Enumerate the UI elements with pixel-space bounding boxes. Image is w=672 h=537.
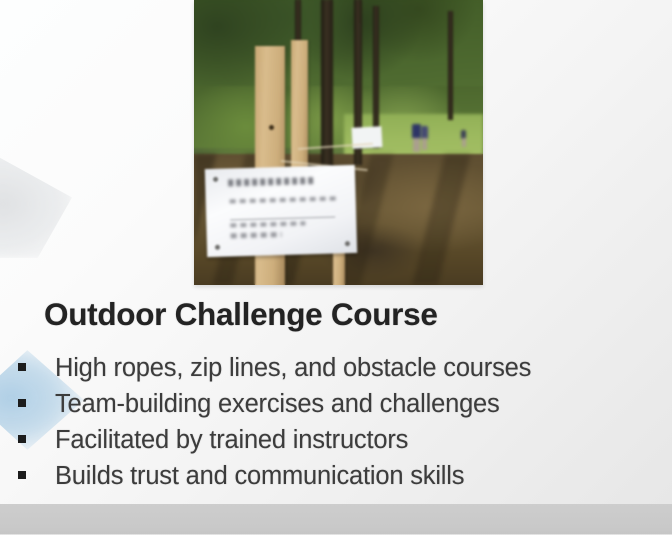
square-bullet-icon [18, 435, 26, 443]
slide-photo [194, 0, 483, 285]
gray-wedge-decoration [0, 150, 72, 258]
photo-sign-heading-text [227, 177, 314, 186]
bullet-label: Builds trust and communication skills [55, 462, 464, 491]
photo-sign-body-text [230, 232, 281, 238]
photo-person-legs [413, 138, 419, 152]
photo-sign-divider [230, 216, 335, 220]
square-bullet-icon [18, 399, 26, 407]
photo-tree-trunk [321, 0, 333, 182]
slide-title: Outdoor Challenge Course [44, 296, 438, 333]
photo-sign-grommet [344, 241, 349, 246]
bullet-label: Facilitated by trained instructors [55, 426, 408, 455]
photo-person-torso [421, 126, 428, 139]
photo-person-legs [462, 138, 466, 147]
photo-sign-body-text [230, 221, 305, 228]
photo-foreground-sign [204, 165, 357, 258]
photo-sign-grommet [212, 176, 217, 181]
photo-distant-person [412, 124, 420, 152]
photo-sign-grommet [214, 245, 219, 250]
slide-bullet-list: High ropes, zip lines, and obstacle cour… [16, 350, 636, 494]
presentation-slide: Outdoor Challenge Course High ropes, zip… [0, 0, 672, 537]
bottom-gray-band [0, 504, 672, 537]
square-bullet-icon [18, 363, 26, 371]
list-item: Team-building exercises and challenges [16, 386, 636, 422]
photo-person-torso [412, 124, 420, 139]
photo-content [194, 0, 483, 285]
photo-sign-body-text [229, 196, 337, 203]
photo-distant-sign [351, 126, 382, 149]
list-item: Builds trust and communication skills [16, 458, 636, 494]
photo-post-bolt [269, 125, 274, 130]
photo-distant-person [421, 126, 428, 151]
list-item: Facilitated by trained instructors [16, 422, 636, 458]
square-bullet-icon [18, 471, 26, 479]
photo-person-torso [461, 130, 466, 139]
photo-distant-person [461, 130, 466, 147]
bullet-label: Team-building exercises and challenges [55, 390, 500, 419]
bullet-label: High ropes, zip lines, and obstacle cour… [55, 354, 531, 383]
photo-person-legs [422, 138, 427, 150]
photo-tree-trunk [448, 11, 453, 119]
list-item: High ropes, zip lines, and obstacle cour… [16, 350, 636, 386]
